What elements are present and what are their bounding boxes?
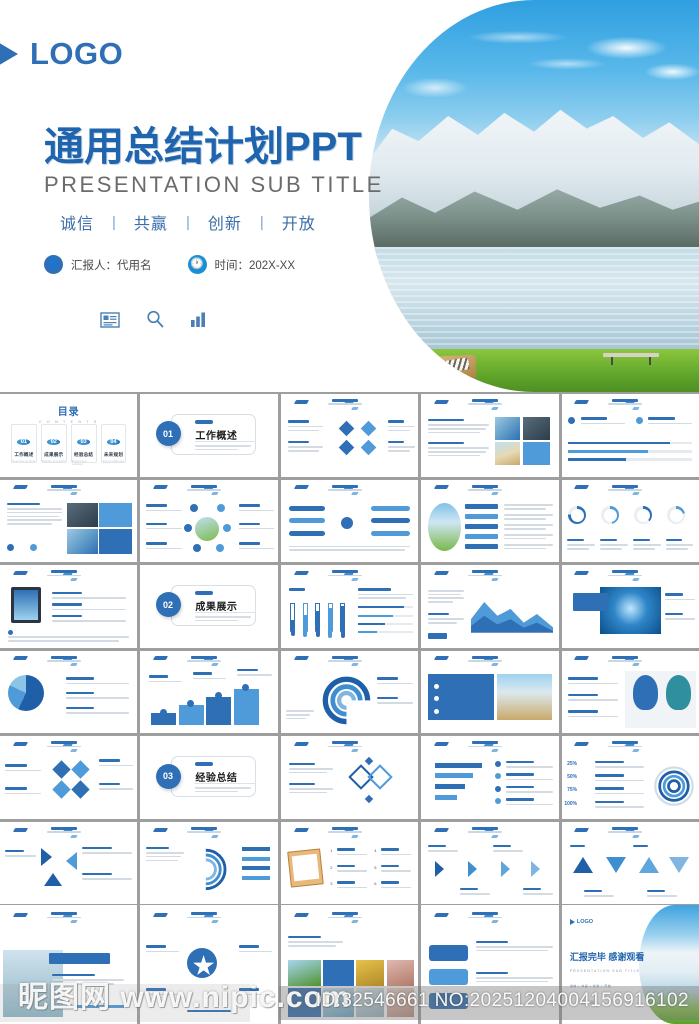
percent-label: 75% [567, 787, 577, 793]
triangle-shape [41, 848, 52, 866]
chevron-icon [468, 861, 477, 877]
arc-graphic [319, 674, 374, 727]
section-title: 工作概述 [195, 427, 237, 442]
slide-thumb-panel-photo[interactable] [421, 651, 558, 734]
cover-meta: 👤 汇报人：代用名 🕐 时间：202X-XX [44, 255, 295, 274]
section-note [195, 787, 255, 794]
percent-label: 50% [567, 774, 577, 780]
slide-title-block [468, 741, 502, 747]
chevron-icon [501, 861, 510, 877]
toc-card[interactable]: 04 未来规划 Future planning [101, 424, 127, 464]
section-title: 经验总结 [195, 769, 237, 784]
toc-card-list: 01 工作概述 Overview of work 02 成果展示 Display… [11, 424, 126, 464]
toc-card-label: 经验总结 [74, 452, 93, 458]
slide-title-block [468, 570, 502, 576]
news-icon [100, 312, 120, 328]
slide-thumb-hbar-chart[interactable] [421, 736, 558, 819]
list-number: 4 [374, 848, 376, 853]
toc-card-sub: Future planning [103, 460, 124, 463]
slide-title-block [608, 741, 642, 747]
slide-thumb-star-badge[interactable] [140, 905, 277, 1024]
slide-thumb-section-02[interactable]: 02 成果展示 [140, 565, 277, 648]
date-label: 时间：202X-XX [215, 257, 296, 273]
head-silhouette [666, 675, 691, 710]
section-note [195, 445, 255, 452]
photo-tile [497, 674, 552, 720]
slide-thumb-tablet-mockup[interactable] [0, 565, 137, 648]
slide-thumb-test-tubes[interactable] [281, 565, 418, 648]
slide-thumb-area-chart[interactable] [421, 565, 558, 648]
section-title: 成果展示 [195, 598, 237, 613]
slide-thumb-head-compare[interactable] [562, 651, 699, 734]
slide-thumb-arc-list[interactable] [140, 822, 277, 905]
slide-title-block [608, 485, 642, 491]
toc-card-number: 04 [107, 439, 120, 445]
presenter-item: 👤 汇报人：代用名 [44, 255, 152, 274]
presenter-label: 汇报人：代用名 [71, 257, 152, 273]
photo-tile [356, 960, 383, 986]
slide-title-block [328, 741, 362, 747]
photo-tile [387, 960, 414, 986]
section-tag [195, 420, 213, 424]
toc-card-sub: Display of results [42, 460, 66, 463]
slide-title-block [187, 912, 221, 918]
toc-card-sub: Experience summary [72, 460, 96, 466]
toc-card[interactable]: 03 经验总结 Experience summary [71, 424, 97, 464]
date-item: 🕐 时间：202X-XX [188, 255, 296, 274]
toc-card-label: 未来规划 [104, 452, 123, 458]
slogan-2: 共赢 [116, 210, 186, 234]
slide-title-block [468, 827, 502, 833]
slide-thumb-concentric-arcs[interactable] [281, 651, 418, 734]
section-rule [195, 783, 255, 784]
slide-thumb-photo-mosaic[interactable] [281, 905, 418, 1024]
user-icon: 👤 [44, 255, 63, 274]
chevron-icon [435, 861, 444, 877]
photo-tile [495, 442, 520, 465]
page-subtitle: PRESENTATION SUB TITLE [44, 172, 384, 198]
slide-thumb-photo-tiles[interactable] [421, 394, 558, 477]
photo-tile [523, 442, 550, 465]
slide-title-block [187, 827, 221, 833]
arc-graphic [201, 843, 239, 896]
speech-bubble [429, 969, 467, 984]
list-number: 6 [374, 881, 376, 886]
slide-title-block [47, 827, 81, 833]
toc-card[interactable]: 02 成果展示 Display of results [41, 424, 67, 464]
slide-title-block [47, 656, 81, 662]
toc-card-number: 02 [47, 439, 60, 445]
slide-title-block [47, 741, 81, 747]
slide-title-block [47, 912, 81, 918]
photo-tile [600, 587, 660, 635]
photo-tile [356, 988, 383, 1017]
search-icon [146, 310, 164, 328]
slide-thumb-circle-cluster[interactable] [140, 480, 277, 563]
head-silhouette [633, 675, 658, 710]
percent-label: 25% [567, 761, 577, 767]
slide-title-block [328, 656, 362, 662]
toc-card-label: 成果展示 [44, 452, 63, 458]
toc-card[interactable]: 01 工作概述 Overview of work [11, 424, 37, 464]
slide-thumb-section-01[interactable]: 01 工作概述 [140, 394, 277, 477]
slide-thumb-photo-caption[interactable] [0, 905, 137, 1024]
section-number: 02 [156, 592, 181, 617]
slide-title-block [47, 485, 81, 491]
slogan-4: 开放 [264, 210, 334, 234]
slide-thumb-water-drop[interactable] [562, 565, 699, 648]
slide-title-block [328, 570, 362, 576]
slide-thumb-text-photo[interactable] [0, 480, 137, 563]
slide-title-block [47, 570, 81, 576]
slide-thumb-ending[interactable]: LOGO 汇报完毕 感谢观看 PRESENTATION SUB TITLE 诚信… [562, 905, 699, 1024]
toc-card-sub: Overview of work [12, 460, 35, 463]
pie-chart [8, 675, 44, 711]
slide-title-block [608, 827, 642, 833]
photo-bench [603, 353, 659, 365]
logo-text: LOGO [30, 36, 123, 72]
ending-footer: 谢 谢 [581, 1000, 596, 1006]
triangle-shape [606, 857, 626, 873]
gear-icon [341, 517, 353, 529]
section-rule [195, 441, 255, 442]
list-number: 5 [374, 865, 376, 870]
slide-thumb-overlap-diamonds[interactable] [281, 736, 418, 819]
slide-thumb-percent-rings[interactable]: 25% 50% 75% 100% [562, 736, 699, 819]
ppt-template-preview: LOGO 通用总结计划PPT PRESENTATION SUB TITLE 诚信… [0, 0, 699, 1024]
slide-title-block [328, 485, 362, 491]
ending-subtitle: PRESENTATION SUB TITLE [570, 969, 640, 973]
slide-title-block [187, 656, 221, 662]
toc-title: 目录 C O N T E N T S [0, 403, 137, 424]
slogan-3: 创新 [190, 210, 260, 234]
slide-thumb-section-03[interactable]: 03 经验总结 [140, 736, 277, 819]
photo-tile [288, 960, 321, 986]
bar-chart-icon [190, 311, 208, 328]
photo-tile [67, 503, 97, 528]
slide-thumb-progress-bars[interactable] [562, 394, 699, 477]
speech-bubble [429, 945, 467, 960]
section-number: 03 [156, 764, 181, 789]
slogan-1: 诚信 [42, 210, 112, 234]
ending-logo: LOGO [570, 919, 593, 925]
section-note [195, 616, 255, 623]
ending-logo-text: LOGO [577, 919, 593, 925]
slide-thumbnail-grid: 目录 C O N T E N T S 01 工作概述 Overview of w… [0, 392, 699, 990]
list-number: 1 [330, 848, 332, 853]
section-tag [195, 591, 213, 595]
toc-card-number: 03 [77, 439, 90, 445]
slide-thumb-oval-photo-list[interactable] [421, 480, 558, 563]
area-chart [471, 590, 553, 633]
photo-tile [387, 988, 414, 1017]
logo[interactable]: LOGO [0, 36, 123, 72]
slide-thumb-gear-hub[interactable] [281, 480, 418, 563]
toc-card-number: 01 [17, 439, 30, 445]
slide-thumb-speech-bubbles[interactable] [421, 905, 558, 1024]
photo-tile [323, 988, 353, 1017]
section-rule [195, 612, 255, 613]
triangle-shape [66, 852, 77, 870]
chevron-icon [531, 861, 540, 877]
photo-tile [99, 503, 132, 528]
slide-thumb-stair-steps[interactable] [140, 651, 277, 734]
page-title: 通用总结计划PPT [44, 114, 362, 172]
slide-title-block [328, 912, 362, 918]
list-number: 3 [330, 881, 332, 886]
photo-tile [523, 417, 550, 440]
slide-title-block [608, 656, 642, 662]
slide-thumbnail-grid-last-row: LOGO 汇报完毕 感谢观看 PRESENTATION SUB TITLE 诚信… [0, 905, 699, 1024]
photo-tile [323, 960, 353, 986]
slide-thumb-pie-chart[interactable] [0, 651, 137, 734]
logo-triangle-icon [0, 41, 18, 67]
ending-title: 汇报完毕 感谢观看 [570, 950, 645, 963]
slide-title-block [328, 827, 362, 833]
ring-graphic [652, 763, 696, 809]
section-number: 01 [156, 421, 181, 446]
slide-title-block [468, 399, 502, 405]
cover-text-area: LOGO 通用总结计划PPT PRESENTATION SUB TITLE 诚信… [0, 0, 420, 392]
ending-slogans: 诚信 | 共赢 | 创新 | 开放 [570, 984, 612, 988]
slide-thumb-clipboard-list[interactable]: 1 2 3 4 5 6 [281, 822, 418, 905]
photo-lounge-chair [421, 355, 476, 382]
triangle-shape [44, 873, 62, 886]
slogan-row: 诚信 | 共赢 | 创新 | 开放 [42, 210, 334, 234]
logo-triangle-icon [570, 919, 575, 925]
toc-card-label: 工作概述 [14, 452, 33, 458]
toc-title-cn: 目录 [0, 403, 137, 418]
slide-thumb-numbered-triangles[interactable] [562, 822, 699, 905]
photo-tile [428, 503, 461, 551]
slide-title-block [468, 912, 502, 918]
photo-tile [99, 529, 132, 554]
slide-title-block [187, 485, 221, 491]
slide-thumb-toc[interactable]: 目录 C O N T E N T S 01 工作概述 Overview of w… [0, 394, 137, 477]
photo-tile [67, 529, 97, 554]
cover-slide: LOGO 通用总结计划PPT PRESENTATION SUB TITLE 诚信… [0, 0, 699, 392]
slide-thumb-chevron-flow[interactable] [421, 822, 558, 905]
slide-thumb-diamond-4[interactable] [281, 394, 418, 477]
slide-thumb-donut-row[interactable] [562, 480, 699, 563]
photo-tile [288, 988, 321, 1017]
photo-tile [495, 417, 520, 440]
slide-title-block [608, 399, 642, 405]
slide-thumb-triangle-cluster[interactable] [0, 822, 137, 905]
slide-title-block [608, 570, 642, 576]
speech-bubble [429, 993, 467, 1008]
triangle-shape [639, 857, 659, 873]
percent-label: 100% [564, 801, 577, 807]
cover-icon-row [100, 310, 208, 328]
triangle-shape [669, 857, 689, 873]
list-number: 2 [330, 865, 332, 870]
slide-thumb-icon-diamond-cluster[interactable] [0, 736, 137, 819]
slide-title-block [468, 656, 502, 662]
slide-title-block [468, 485, 502, 491]
section-tag [195, 762, 213, 766]
triangle-shape [573, 857, 593, 873]
ending-photo [639, 905, 699, 1024]
slide-title-block [328, 399, 362, 405]
clock-icon: 🕐 [188, 255, 207, 274]
